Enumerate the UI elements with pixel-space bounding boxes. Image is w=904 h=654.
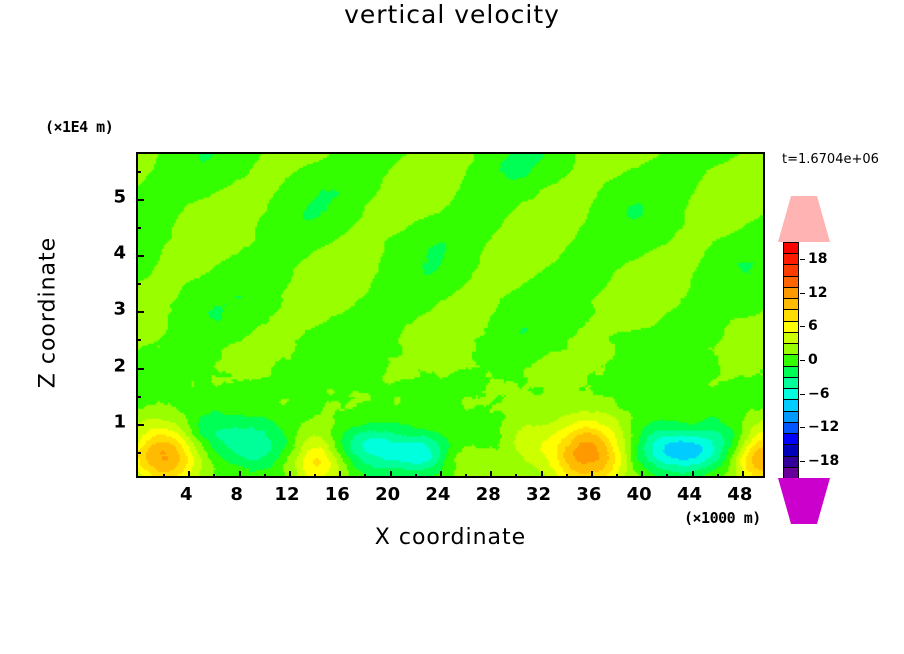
colorbar-tick-label: 18 (808, 251, 827, 267)
colorbar-tick (800, 293, 805, 294)
y-tick-minor (137, 283, 141, 285)
y-tick-label: 2 (102, 355, 126, 376)
x-tick-minor (415, 474, 417, 478)
y-tick (137, 424, 144, 426)
y-tick-minor (137, 339, 141, 341)
colorbar-tick (800, 259, 805, 260)
x-tick (490, 471, 492, 478)
colorbar-tick-label: −6 (808, 386, 829, 402)
colorbar-tick (800, 394, 805, 395)
colorbar-tick (800, 360, 805, 361)
x-axis-unit-label: (×1000 m) (684, 509, 761, 527)
y-tick-minor (137, 396, 141, 398)
x-tick-minor (163, 474, 165, 478)
contour-plot-area (136, 152, 765, 478)
timestamp-annotation: t=1.6704e+06 (782, 152, 879, 167)
x-tick (188, 471, 190, 478)
x-tick (692, 471, 694, 478)
colorbar-tick-label: −12 (808, 419, 839, 435)
y-tick (137, 311, 144, 313)
y-tick (137, 368, 144, 370)
x-tick-label: 32 (526, 484, 551, 505)
x-tick (339, 471, 341, 478)
y-tick (137, 199, 144, 201)
x-tick-minor (264, 474, 266, 478)
x-tick-minor (515, 474, 517, 478)
x-tick (541, 471, 543, 478)
x-tick-label: 44 (677, 484, 702, 505)
x-tick-label: 28 (476, 484, 501, 505)
y-tick-label: 5 (102, 186, 126, 207)
colorbar-tick (800, 461, 805, 462)
y-axis-unit-label: (×1E4 m) (45, 118, 113, 136)
x-tick (390, 471, 392, 478)
colorbar: 181260−6−12−18 (778, 196, 804, 524)
y-tick-minor (137, 227, 141, 229)
colorbar-tick (800, 326, 805, 327)
x-tick-label: 16 (325, 484, 350, 505)
colorbar-tick (800, 427, 805, 428)
x-tick-label: 40 (627, 484, 652, 505)
x-tick (440, 471, 442, 478)
x-tick-minor (213, 474, 215, 478)
x-tick-label: 20 (375, 484, 400, 505)
x-tick-minor (465, 474, 467, 478)
x-tick (289, 471, 291, 478)
x-tick-minor (666, 474, 668, 478)
x-tick-minor (314, 474, 316, 478)
x-tick (742, 471, 744, 478)
x-tick-label: 48 (727, 484, 752, 505)
y-tick-label: 1 (102, 411, 126, 432)
colorbar-tick-label: 0 (808, 352, 818, 368)
x-tick-label: 4 (180, 484, 193, 505)
x-tick-minor (364, 474, 366, 478)
x-tick-label: 12 (274, 484, 299, 505)
x-tick-label: 8 (230, 484, 243, 505)
y-tick-minor (137, 452, 141, 454)
y-tick-minor (137, 171, 141, 173)
y-tick-label: 3 (102, 299, 126, 320)
x-tick-label: 24 (425, 484, 450, 505)
x-axis-title: X coordinate (136, 525, 765, 550)
x-tick (591, 471, 593, 478)
x-tick (641, 471, 643, 478)
chart-title: vertical velocity (0, 0, 904, 29)
colorbar-cap-bottom (778, 478, 830, 524)
x-tick-label: 36 (576, 484, 601, 505)
y-tick-label: 4 (102, 243, 126, 264)
y-tick (137, 255, 144, 257)
x-tick-minor (566, 474, 568, 478)
colorbar-tick-label: −18 (808, 453, 839, 469)
y-axis-title: Z coordinate (36, 203, 61, 423)
colorbar-cap-top (778, 196, 830, 242)
colorbar-tick-label: 6 (808, 318, 818, 334)
x-tick-minor (717, 474, 719, 478)
x-tick-minor (616, 474, 618, 478)
x-tick (239, 471, 241, 478)
vertical-velocity-field (138, 154, 763, 476)
colorbar-tick-label: 12 (808, 285, 827, 301)
